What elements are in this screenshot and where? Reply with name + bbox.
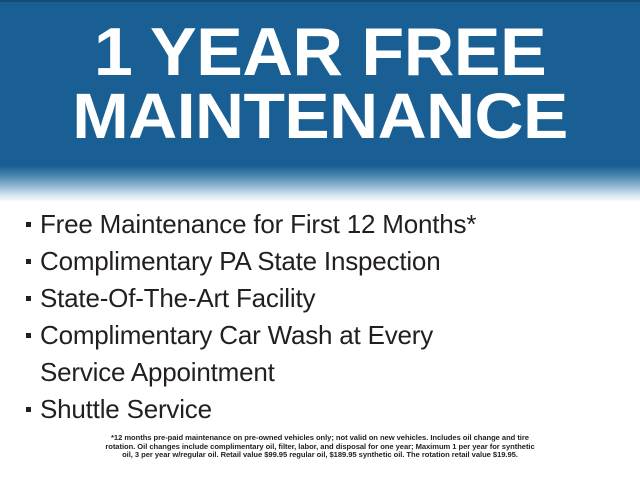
benefit-label: Complimentary Car Wash at Every [40,317,622,353]
benefit-label: Complimentary PA State Inspection [40,243,622,279]
list-item: Complimentary PA State Inspection [22,243,622,279]
headline-line-two: MAINTENANCE [0,84,640,148]
bullet-square-icon [22,391,40,412]
list-item: State-Of-The-Art Facility [22,280,622,316]
bullet-square-icon [22,206,40,227]
benefit-label: Shuttle Service [40,391,622,427]
list-item: Complimentary Car Wash at Every [22,317,622,353]
benefit-label: Free Maintenance for First 12 Months* [40,206,622,242]
banner-gradient-fade [0,166,640,202]
disclaimer-text: *12 months pre-paid maintenance on pre-o… [40,434,600,460]
disclaimer-line-three: oil, 3 per year w/regular oil. Retail va… [40,451,600,460]
benefits-list: Free Maintenance for First 12 Months* Co… [22,206,622,428]
list-item: Free Maintenance for First 12 Months* [22,206,622,242]
bullet-square-icon [22,243,40,264]
bullet-spacer [22,354,40,375]
list-item: Shuttle Service [22,391,622,427]
bullet-square-icon [22,317,40,338]
banner-top-rule [0,0,640,2]
benefit-label-continued: Service Appointment [40,354,622,390]
headline-banner: 1 YEAR FREE MAINTENANCE [0,0,640,168]
bullet-square-icon [22,280,40,301]
advertisement-card: 1 YEAR FREE MAINTENANCE Free Maintenance… [0,0,640,480]
list-item-continuation: Service Appointment [22,354,622,390]
headline-line-one: 1 YEAR FREE [0,18,640,86]
benefit-label: State-Of-The-Art Facility [40,280,622,316]
